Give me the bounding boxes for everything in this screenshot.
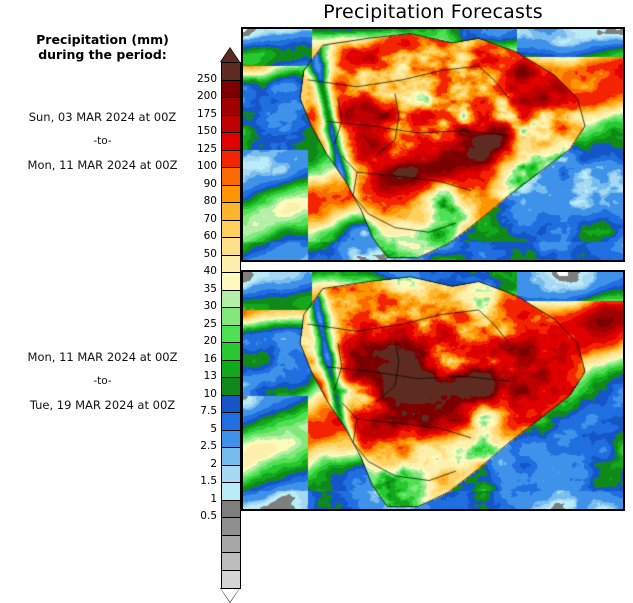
colorbar-band: 10: [222, 396, 240, 414]
colorbar-band: 150: [222, 133, 240, 151]
colorbar-tick-label: 70: [171, 213, 217, 225]
colorbar-band: 0.5: [222, 518, 240, 536]
colorbar-band: 1: [222, 501, 240, 519]
colorbar-tick-label: 0.5: [171, 510, 217, 522]
colorbar-tick-label: 200: [171, 90, 217, 102]
colorbar-band: 40: [222, 273, 240, 291]
triangle-down-icon: [221, 589, 239, 602]
colorbar-band: 60: [222, 238, 240, 256]
colorbar-band: 5: [222, 431, 240, 449]
colorbar-tick-label: 250: [171, 73, 217, 85]
colorbar-band: 175: [222, 116, 240, 134]
colorbar-tick-label: 10: [171, 388, 217, 400]
triangle-up-icon: [221, 48, 239, 62]
colorbar-tick-label: 5: [171, 423, 217, 435]
colorbar-tick-label: 80: [171, 195, 217, 207]
colorbar-tick-label: 35: [171, 283, 217, 295]
colorbar-bands: 2502001751501251009080706050403530252016…: [221, 62, 241, 589]
colorbar-band: [222, 571, 240, 589]
forecast-map-bottom[interactable]: [241, 270, 625, 511]
colorbar-tick-label: 150: [171, 125, 217, 137]
colorbar-tick-label: 25: [171, 318, 217, 330]
colorbar-band: 125: [222, 151, 240, 169]
colorbar-band: 70: [222, 221, 240, 239]
colorbar-band: 25: [222, 326, 240, 344]
colorbar-band: 200: [222, 98, 240, 116]
legend-heading-line2: during the period:: [0, 47, 205, 62]
colorbar-tick-label: 40: [171, 265, 217, 277]
colorbar-tick-label: 50: [171, 248, 217, 260]
colorbar-band: 13: [222, 378, 240, 396]
colorbar-band: 2.5: [222, 448, 240, 466]
legend-heading: Precipitation (mm) during the period:: [0, 32, 205, 62]
colorbar-band: 20: [222, 343, 240, 361]
precipitation-heatmap-top: [243, 29, 623, 260]
precipitation-heatmap-bottom: [243, 272, 623, 509]
colorbar-band: 90: [222, 186, 240, 204]
colorbar-tick-label: 7.5: [171, 405, 217, 417]
colorbar-tick-label: 16: [171, 353, 217, 365]
colorbar-band: [222, 63, 240, 81]
colorbar-tick-label: 175: [171, 108, 217, 120]
colorbar-tick-label: 2: [171, 458, 217, 470]
forecast-map-top[interactable]: [241, 27, 625, 262]
page-title: Precipitation Forecasts: [241, 1, 625, 23]
colorbar: 2502001751501251009080706050403530252016…: [212, 48, 242, 508]
colorbar-band: 50: [222, 256, 240, 274]
colorbar-band: 35: [222, 291, 240, 309]
colorbar-band: 250: [222, 81, 240, 99]
colorbar-band: 16: [222, 361, 240, 379]
colorbar-band: 2: [222, 466, 240, 484]
colorbar-tick-label: 2.5: [171, 440, 217, 452]
legend-heading-line1: Precipitation (mm): [36, 32, 169, 47]
colorbar-tick-label: 125: [171, 143, 217, 155]
colorbar-tick-label: 20: [171, 335, 217, 347]
colorbar-band: 1.5: [222, 483, 240, 501]
colorbar-tick-label: 30: [171, 300, 217, 312]
colorbar-tick-label: 13: [171, 370, 217, 382]
colorbar-tick-label: 1.5: [171, 475, 217, 487]
colorbar-tick-label: 1: [171, 493, 217, 505]
colorbar-band: 7.5: [222, 413, 240, 431]
colorbar-tick-label: 60: [171, 230, 217, 242]
colorbar-band: [222, 536, 240, 554]
colorbar-tick-label: 100: [171, 160, 217, 172]
colorbar-band: [222, 553, 240, 571]
colorbar-band: 100: [222, 168, 240, 186]
colorbar-band: 30: [222, 308, 240, 326]
colorbar-band: 80: [222, 203, 240, 221]
colorbar-tick-label: 90: [171, 178, 217, 190]
